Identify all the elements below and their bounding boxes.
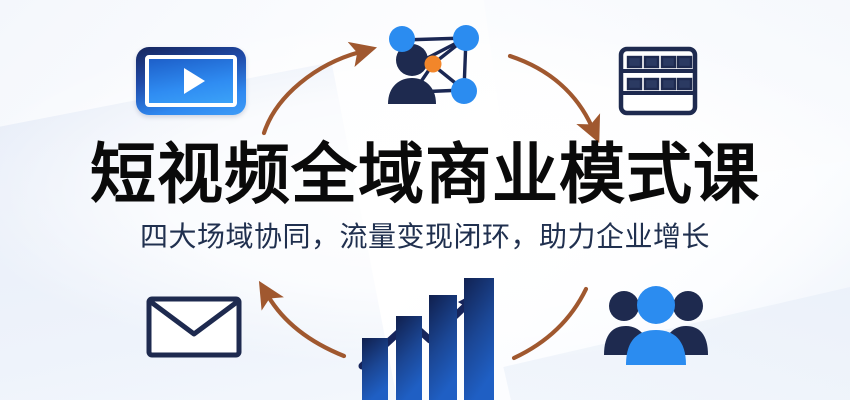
server-rack-icon [618,46,698,116]
growth-bar-chart-icon [352,278,502,400]
growth-bar-3 [429,295,457,400]
growth-bar-1 [362,338,388,400]
team-group-icon [602,285,710,367]
video-play-icon-frame [136,47,246,115]
envelope-body [149,299,239,355]
video-play-icon [136,47,246,115]
video-play-icon-triangle [184,68,205,94]
arrow-video-to-network [264,52,360,133]
arrow-network-to-server [510,56,592,127]
arrow-team-to-growth [514,289,586,358]
growth-bar-2 [396,316,422,400]
network-node-top-right [453,25,479,51]
envelope-icon [146,296,242,358]
arrow-growth-to-mail [268,296,344,356]
network-person-body [388,78,436,104]
video-play-icon-screen [145,55,237,107]
course-promo-banner: 短视频全域商业模式课 四大场域协同，流量变现闭环，助力企业增长 [0,0,850,400]
team-back-left-head [609,291,639,321]
page-title: 短视频全域商业模式课 [0,138,850,210]
team-front-head [637,286,675,324]
page-subtitle: 四大场域协同，流量变现闭环，助力企业增长 [0,219,850,255]
team-back-right-head [673,291,703,321]
growth-bar-4 [464,278,494,400]
network-node-center [425,56,442,73]
network-node-bottom-right [451,78,477,104]
user-network-icon [378,12,488,112]
network-node-top-left [389,26,415,52]
